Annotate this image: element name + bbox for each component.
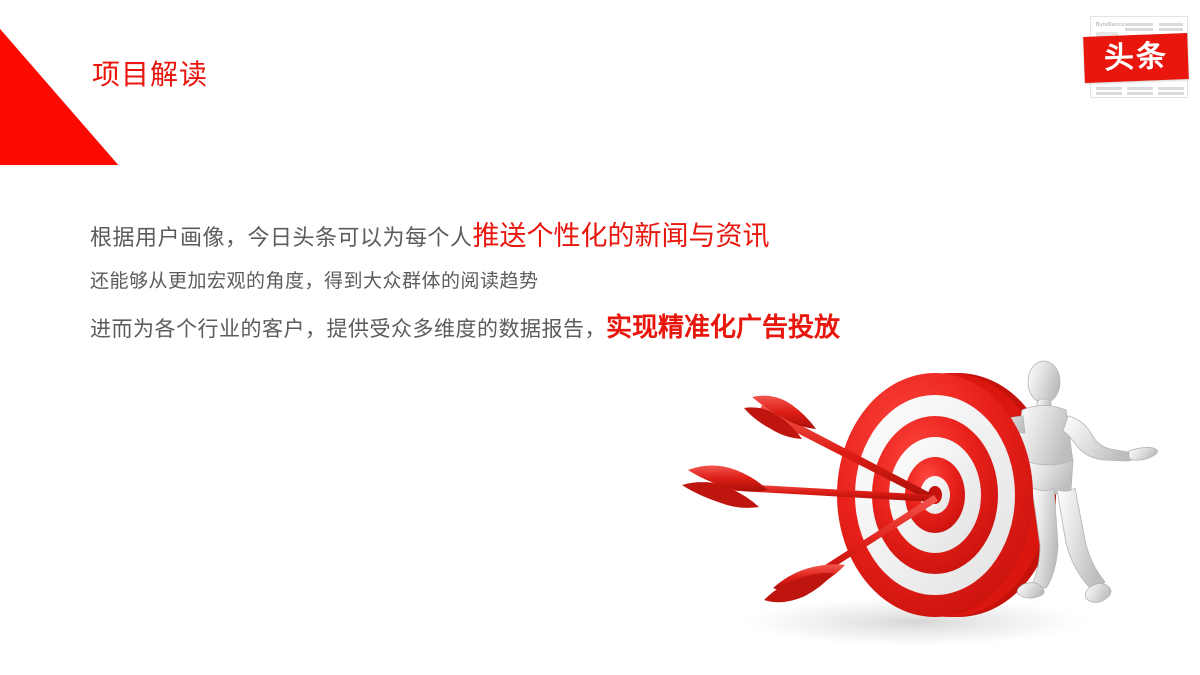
toutiao-logo: ByteDance 头条 [1084, 14, 1192, 100]
page-title: 项目解读 [92, 58, 208, 92]
newspaper-line [1096, 87, 1122, 90]
newspaper-line [1158, 87, 1184, 90]
newspaper-line [1158, 92, 1184, 95]
newspaper-masthead-label: ByteDance [1096, 22, 1125, 28]
newspaper-line [1125, 23, 1153, 26]
newspaper-line [1125, 28, 1153, 31]
newspaper-line [1127, 92, 1153, 95]
dartboard-illustration [640, 352, 1200, 675]
newspaper-line [1096, 92, 1122, 95]
logo-badge: 头条 [1083, 33, 1189, 83]
body-line-1-highlight: 推送个性化的新闻与资讯 [473, 221, 770, 251]
body-line-2-normal: 还能够从更加宏观的角度，得到大众群体的阅读趋势 [90, 271, 539, 292]
newspaper-line [1159, 28, 1183, 31]
body-line-3-normal: 进而为各个行业的客户，提供受众多维度的数据报告， [90, 318, 606, 341]
newspaper-line [1159, 23, 1183, 26]
body-line-3-highlight: 实现精准化广告投放 [606, 312, 840, 342]
slide-canvas: 项目解读 ByteDance 头条 根据用户画像，今日头条可以为每个人推送个性化… [0, 0, 1200, 675]
body-line-3: 进而为各个行业的客户，提供受众多维度的数据报告，实现精准化广告投放 [90, 311, 1100, 346]
body-line-1-normal: 根据用户画像，今日头条可以为每个人 [90, 225, 473, 250]
newspaper-line [1127, 87, 1153, 90]
body-line-1: 根据用户画像，今日头条可以为每个人推送个性化的新闻与资讯 [90, 219, 1100, 255]
body-copy: 根据用户画像，今日头条可以为每个人推送个性化的新闻与资讯 还能够从更加宏观的角度… [90, 219, 1100, 346]
body-line-2: 还能够从更加宏观的角度，得到大众群体的阅读趋势 [90, 267, 1100, 297]
logo-brand-text: 头条 [1083, 33, 1189, 83]
